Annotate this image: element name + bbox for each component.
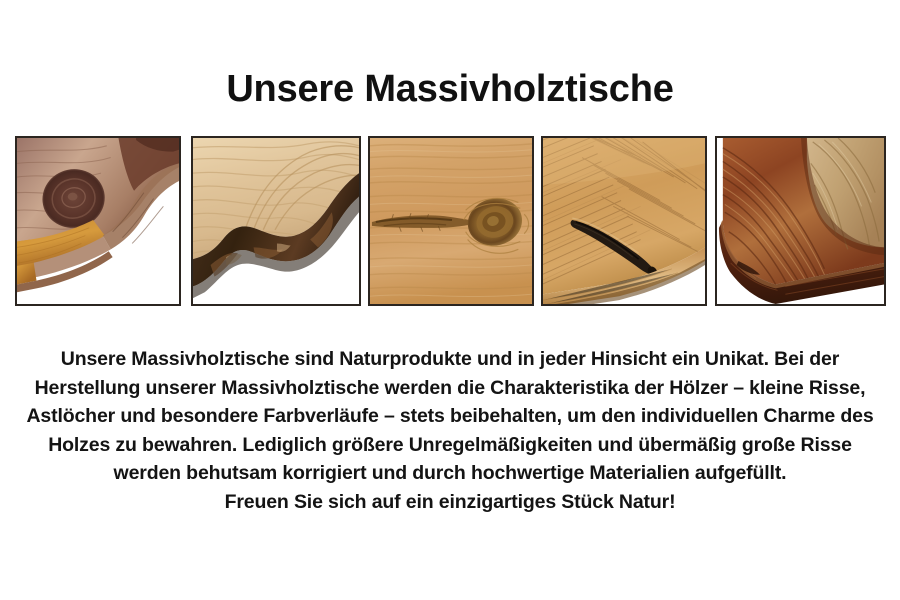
description-line-3: Astlöcher und besondere Farbverläufe – s…: [22, 402, 878, 431]
description-paragraph: Unsere Massivholztische sind Naturproduk…: [22, 345, 878, 516]
gallery-image-4[interactable]: [541, 136, 707, 306]
product-image-gallery: [15, 136, 886, 306]
page-title: Unsere Massivholztische: [0, 66, 900, 112]
wood-slab-knot-image: [17, 138, 179, 304]
description-line-6: Freuen Sie sich auf ein einzigartiges St…: [22, 488, 878, 517]
gallery-image-1[interactable]: [15, 136, 181, 306]
gallery-image-5[interactable]: [715, 136, 886, 306]
description-line-4: Holzes zu bewahren. Lediglich größere Un…: [22, 431, 878, 460]
wood-live-edge-image: [193, 138, 359, 304]
description-line-5: werden behutsam korrigiert und durch hoc…: [22, 459, 878, 488]
description-line-2: Herstellung unserer Massivholztische wer…: [22, 374, 878, 403]
wood-grain-knot-image: [370, 138, 532, 304]
gallery-image-3[interactable]: [368, 136, 534, 306]
wood-crack-detail-image: [543, 138, 705, 304]
gallery-image-2[interactable]: [191, 136, 361, 306]
sheesham-slab-image: [717, 138, 884, 304]
page-root: Unsere Massivholztische: [0, 0, 900, 600]
description-line-1: Unsere Massivholztische sind Naturproduk…: [22, 345, 878, 374]
